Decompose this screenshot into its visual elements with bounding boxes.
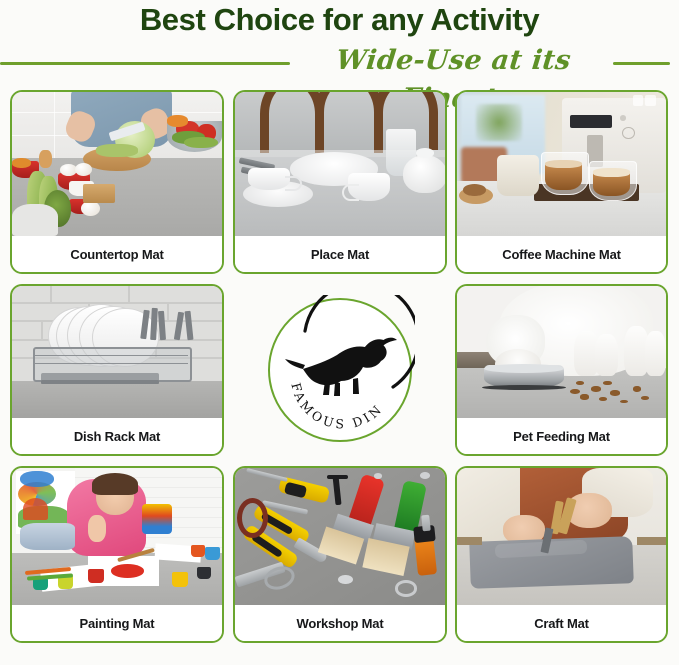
- card-caption: Place Mat: [235, 236, 445, 272]
- card-caption: Dish Rack Mat: [12, 418, 222, 454]
- photo-pet-feeding-mat: [457, 286, 666, 418]
- card-workshop-mat[interactable]: Workshop Mat: [233, 466, 447, 643]
- card-countertop-mat[interactable]: Countertop Mat: [10, 90, 224, 274]
- header-banner: Best Choice for any Activity Wide-Use at…: [0, 0, 679, 84]
- feature-grid: Countertop Mat Place Mat: [0, 88, 679, 658]
- photo-place-mat: [235, 92, 445, 236]
- photo-workshop-mat: [235, 468, 445, 605]
- card-caption: Countertop Mat: [12, 236, 222, 272]
- photo-painting-mat: [12, 468, 222, 605]
- page-title: Best Choice for any Activity: [0, 2, 679, 38]
- photo-craft-mat: [457, 468, 666, 605]
- card-pet-feeding-mat[interactable]: Pet Feeding Mat: [455, 284, 668, 456]
- card-craft-mat[interactable]: Craft Mat: [455, 466, 668, 643]
- card-caption: Coffee Machine Mat: [457, 236, 666, 272]
- famous-dino-logo-icon: FAMOUS DINO: [265, 295, 415, 445]
- photo-dish-rack-mat: [12, 286, 222, 418]
- card-painting-mat[interactable]: Painting Mat: [10, 466, 224, 643]
- card-dish-rack-mat[interactable]: Dish Rack Mat: [10, 284, 224, 456]
- photo-coffee-machine-mat: [457, 92, 666, 236]
- card-caption: Pet Feeding Mat: [457, 418, 666, 454]
- divider-line-right: [613, 62, 670, 65]
- divider-line-left: [0, 62, 290, 65]
- photo-countertop-mat: [12, 92, 222, 236]
- card-place-mat[interactable]: Place Mat: [233, 90, 447, 274]
- card-caption: Workshop Mat: [235, 605, 445, 641]
- card-coffee-machine-mat[interactable]: Coffee Machine Mat: [455, 90, 668, 274]
- card-caption: Craft Mat: [457, 605, 666, 641]
- brand-logo-tile: FAMOUS DINO: [233, 284, 447, 456]
- subtitle-row: Wide-Use at its Finest: [0, 42, 679, 82]
- card-caption: Painting Mat: [12, 605, 222, 641]
